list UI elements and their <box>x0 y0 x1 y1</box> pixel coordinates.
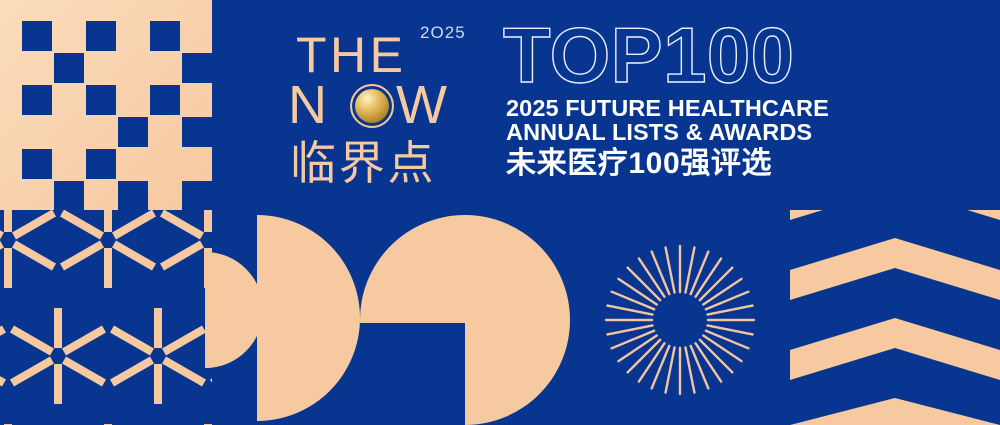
checker-square <box>150 85 180 115</box>
checker-square <box>54 53 84 83</box>
notched-circle-shape <box>360 215 570 425</box>
half-circle-large <box>257 215 360 421</box>
logo-letter-n: N <box>288 78 329 132</box>
subtitle-chinese: 未来医疗100强评选 <box>506 147 976 181</box>
checker-square <box>182 181 212 211</box>
gold-sphere-icon <box>350 84 394 128</box>
checker-square <box>22 85 52 115</box>
checker-square <box>182 117 212 147</box>
top100-award-banner: THE 2O25 N W 临界点 TOP100 2025 FUTURE HEAL… <box>0 0 1000 425</box>
checkerboard-pattern <box>0 0 212 210</box>
checker-square <box>118 181 148 211</box>
top100-wordmark: TOP100 <box>503 16 794 94</box>
checker-square <box>118 117 148 147</box>
sunburst-rays-icon <box>606 246 754 394</box>
checker-square <box>86 21 116 51</box>
checker-square <box>86 149 116 179</box>
award-title-block: 2025 FUTURE HEALTHCARE ANNUAL LISTS & AW… <box>506 96 976 180</box>
diagonal-chevron-stripes <box>790 210 1000 425</box>
half-circle-small-body <box>205 252 263 368</box>
checker-square <box>22 21 52 51</box>
logo-letter-w: W <box>396 78 449 132</box>
subtitle-line-1: 2025 FUTURE HEALTHCARE <box>506 96 976 120</box>
subtitle-line-2: ANNUAL LISTS & AWARDS <box>506 120 976 144</box>
checker-square <box>86 85 116 115</box>
logo-chinese-name: 临界点 <box>290 140 436 186</box>
checker-square <box>22 149 52 179</box>
checker-square <box>182 53 212 83</box>
decorative-bottom-band <box>0 210 1000 425</box>
the-now-logo: THE 2O25 N W 临界点 <box>286 22 486 192</box>
checker-square <box>150 21 180 51</box>
checker-square <box>54 181 84 211</box>
logo-year-2025: 2O25 <box>420 24 466 41</box>
logo-text-the: THE <box>296 30 407 80</box>
